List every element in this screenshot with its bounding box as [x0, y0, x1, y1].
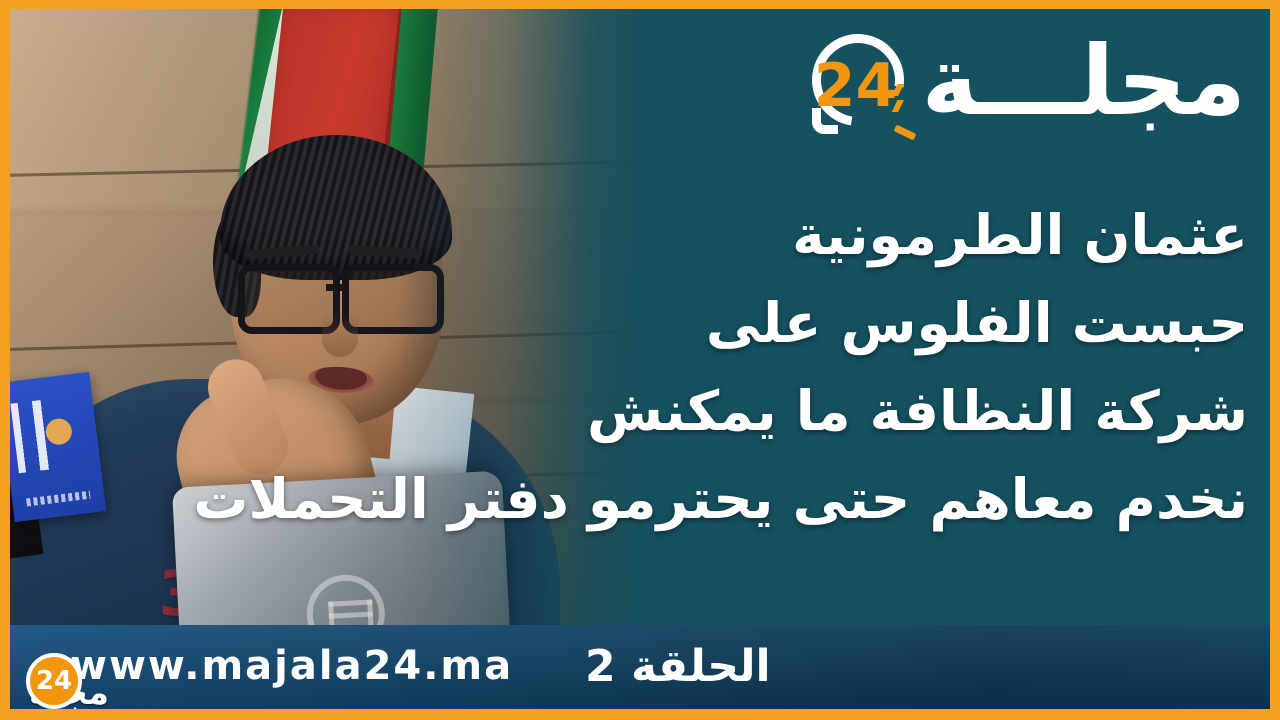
- episode-label: الحلقة 2: [585, 641, 771, 692]
- news-card: 3: [0, 0, 1280, 720]
- watermark-24-badge: 24: [26, 653, 82, 709]
- logo-dashes-icon: [880, 84, 914, 128]
- headline-line-3: شركة النظافة ما يمكنش: [38, 367, 1248, 455]
- headline-line-4: نخدم معاهم حتى يحترمو دفتر التحملات: [38, 455, 1248, 543]
- site-url[interactable]: www.majala24.ma: [70, 643, 513, 689]
- logo-wordmark: مجلـــة: [922, 33, 1246, 129]
- card-stage: 3: [10, 9, 1270, 709]
- footer-bar: www.majala24.ma الحلقة 2 مجلة 24: [10, 625, 1270, 709]
- headline: عثمان الطرمونية حبست الفلوس على شركة الن…: [38, 191, 1248, 543]
- logo-24-badge: 24: [806, 30, 918, 142]
- headline-line-2: حبست الفلوس على: [38, 279, 1248, 367]
- majala24-logo[interactable]: مجلـــة 24: [806, 27, 1246, 145]
- headline-line-1: عثمان الطرمونية: [38, 191, 1248, 279]
- footer-watermark: مجلة 24: [10, 651, 134, 709]
